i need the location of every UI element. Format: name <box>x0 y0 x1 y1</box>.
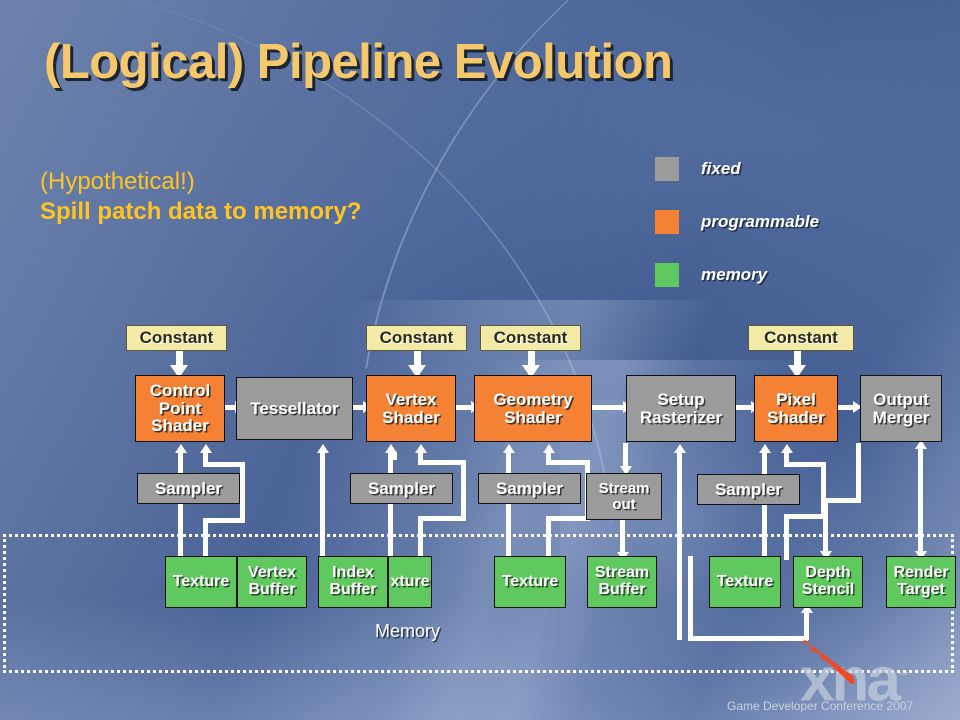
memory-label: Texture <box>717 574 774 591</box>
memory-label: Stream Buffer <box>595 565 649 598</box>
connector-vs-sampler-v2 <box>461 460 466 520</box>
connector-vs-sampler-h2 <box>418 516 466 521</box>
stage-stream-out[interactable]: Stream out <box>586 473 662 520</box>
legend-swatch-programmable <box>655 210 679 234</box>
connector-depthstencil-om-h <box>823 498 861 503</box>
connector-gs-setup <box>592 405 624 410</box>
memory-box-texture-4[interactable]: Texture <box>709 556 781 608</box>
connector-ps-sampler-h <box>784 462 826 467</box>
connector-setup-ps <box>736 405 752 410</box>
legend-item-fixed: fixed <box>655 157 819 181</box>
stage-tessellator[interactable]: Tessellator <box>236 377 353 440</box>
sampler-box-control-point-shader[interactable]: Sampler <box>137 473 240 504</box>
slide-canvas: (Logical) Pipeline Evolution (Hypothetic… <box>0 0 960 720</box>
connector-ps-sampler-h2 <box>784 514 826 519</box>
stage-label: Control Point Shader <box>150 382 210 435</box>
subtitle-line-1: (Hypothetical!) <box>40 167 361 197</box>
legend-label-programmable: programmable <box>701 212 819 232</box>
stage-geometry-shader[interactable]: Geometry Shader <box>474 375 592 442</box>
memory-label: Render Target <box>893 565 948 598</box>
legend-item-memory: memory <box>655 263 819 287</box>
connector-vbuf-cps-h2 <box>203 518 245 523</box>
constant-box-pixel-shader[interactable]: Constant <box>748 325 854 351</box>
connector-vbuf-cps-h1 <box>203 462 245 467</box>
arrow-vbuf-cps <box>200 444 212 453</box>
legend-label-fixed: fixed <box>701 159 741 179</box>
stage-pixel-shader[interactable]: Pixel Shader <box>754 375 838 442</box>
memory-box-vertex-buffer[interactable]: Vertex Buffer <box>237 556 307 608</box>
stage-label: Tessellator <box>250 400 339 418</box>
arrow-texture1-cps <box>175 444 187 453</box>
connector-vs-gs <box>456 405 472 410</box>
stage-setup-rasterizer[interactable]: Setup Rasterizer <box>626 375 736 442</box>
memory-label: Vertex Buffer <box>248 565 296 598</box>
connector-depthstencil-om-v <box>856 443 861 503</box>
sampler-box-geometry-shader[interactable]: Sampler <box>478 473 581 504</box>
memory-label: Texture <box>502 574 559 591</box>
page-title: (Logical) Pipeline Evolution <box>44 34 672 90</box>
connector-vbuf-cps-v2 <box>240 462 245 522</box>
stage-output-merger[interactable]: Output Merger <box>860 375 942 442</box>
memory-box-render-target[interactable]: Render Target <box>886 556 956 608</box>
connector-vs-sampler-h <box>418 460 466 465</box>
memory-label: Depth Stencil <box>802 565 854 598</box>
stage-vertex-shader[interactable]: Vertex Shader <box>366 375 456 442</box>
arrow-gs-sampler <box>543 444 555 453</box>
stage-label: Pixel Shader <box>767 391 825 426</box>
footer-text: Game Developer Conference 2007 <box>727 699 913 713</box>
arrow-streambuffer-setup <box>674 444 686 453</box>
arrow-ibuf-tess <box>317 444 329 453</box>
stage-label: Stream out <box>599 481 650 512</box>
arrow-texture4-gs <box>503 444 515 453</box>
xna-logo-tm: ™ <box>898 670 909 682</box>
memory-box-stream-buffer[interactable]: Stream Buffer <box>587 556 657 608</box>
stage-label: Output Merger <box>873 391 930 426</box>
subtitle: (Hypothetical!) Spill patch data to memo… <box>40 167 361 227</box>
memory-box-texture-1[interactable]: Texture <box>165 556 237 608</box>
memory-box-texture-2[interactable]: xture <box>388 556 432 608</box>
stage-label: Geometry Shader <box>493 391 572 426</box>
memory-box-index-buffer[interactable]: Index Buffer <box>318 556 388 608</box>
memory-box-texture-3[interactable]: Texture <box>494 556 566 608</box>
legend-swatch-memory <box>655 263 679 287</box>
legend-swatch-fixed <box>655 157 679 181</box>
constant-box-vertex-shader[interactable]: Constant <box>366 325 467 351</box>
memory-box-depth-stencil[interactable]: Depth Stencil <box>793 556 863 608</box>
stage-label: Vertex Shader <box>382 391 440 426</box>
memory-label: Index Buffer <box>329 565 376 598</box>
legend-label-memory: memory <box>701 265 767 285</box>
memory-label: xture <box>390 574 429 591</box>
constant-box-geometry-shader[interactable]: Constant <box>480 325 581 351</box>
legend-item-programmable: programmable <box>655 210 819 234</box>
stage-label: Setup Rasterizer <box>640 391 722 426</box>
connector-texture3-vs <box>392 452 397 460</box>
constant-box-control-point-shader[interactable]: Constant <box>126 325 227 351</box>
sampler-box-pixel-shader[interactable]: Sampler <box>697 474 800 505</box>
connector-gs-sampler-h <box>546 460 590 465</box>
subtitle-line-2: Spill patch data to memory? <box>40 197 361 227</box>
legend: fixed programmable memory <box>655 157 819 316</box>
arrow-ps-sampler <box>781 444 793 453</box>
sampler-box-vertex-shader[interactable]: Sampler <box>350 473 453 504</box>
memory-region-label: Memory <box>375 621 440 642</box>
memory-label: Texture <box>173 574 230 591</box>
stage-control-point-shader[interactable]: Control Point Shader <box>135 375 225 442</box>
connector-gs-sampler-h2 <box>546 516 590 521</box>
arrow-vs-sampler <box>415 444 427 453</box>
arrow-texture5-ps <box>759 444 771 453</box>
